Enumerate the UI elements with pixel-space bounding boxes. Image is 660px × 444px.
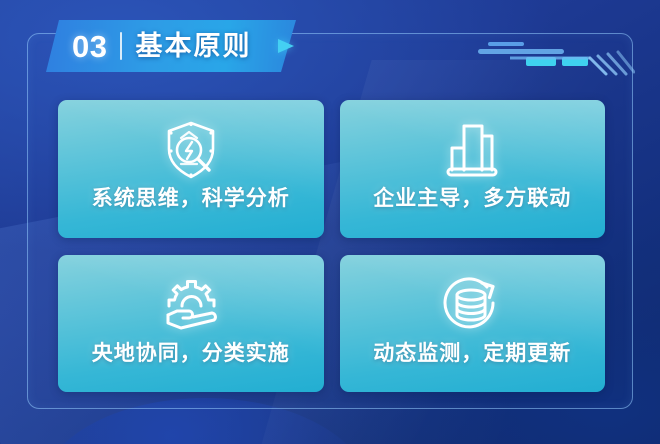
card-label: 动态监测，定期更新 <box>373 343 571 364</box>
section-title: 基本原则 <box>135 33 251 60</box>
section-number: 03 <box>72 31 107 62</box>
card-systematic-thinking[interactable]: 系统思维，科学分析 <box>58 100 324 238</box>
card-label: 央地协同，分类实施 <box>92 343 290 364</box>
banner-arrow-notch-icon <box>278 39 294 53</box>
buildings-icon <box>436 114 508 186</box>
section-header-banner: 03 基本原则 <box>46 20 296 72</box>
slide-canvas: 03 基本原则 <box>0 0 660 444</box>
banner-divider <box>120 32 122 60</box>
card-label: 系统思维，科学分析 <box>92 188 290 209</box>
principles-grid: 系统思维，科学分析 企业主导，多方联动 <box>58 100 605 392</box>
background-blob <box>40 398 370 444</box>
card-dynamic-monitoring[interactable]: 动态监测，定期更新 <box>340 255 606 393</box>
card-enterprise-led[interactable]: 企业主导，多方联动 <box>340 100 606 238</box>
card-central-local-coordination[interactable]: 央地协同，分类实施 <box>58 255 324 393</box>
card-label: 企业主导，多方联动 <box>373 188 571 209</box>
tech-lines-decoration <box>470 36 635 80</box>
database-refresh-icon <box>436 269 508 341</box>
shield-magnifier-icon <box>155 114 227 186</box>
gear-hand-icon <box>155 269 227 341</box>
